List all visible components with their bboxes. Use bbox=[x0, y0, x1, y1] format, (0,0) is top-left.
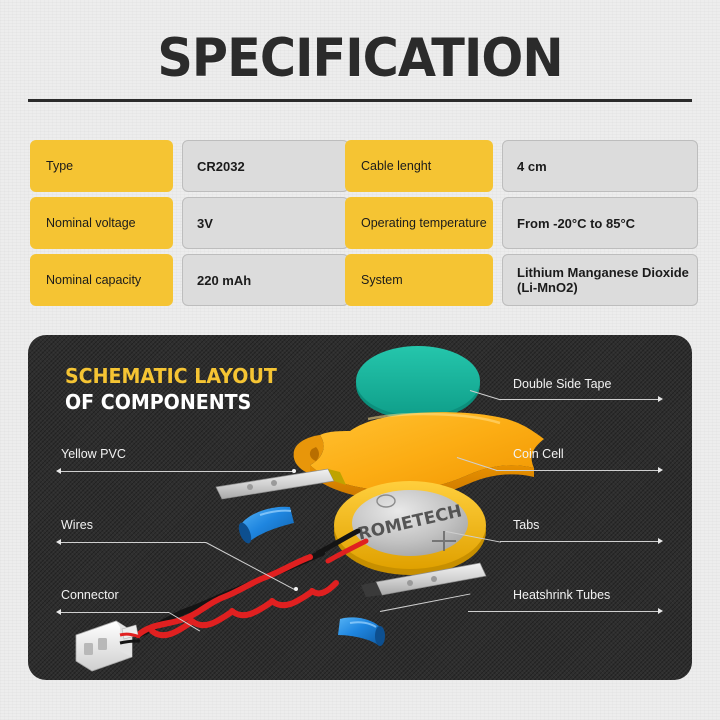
spec-value-cell: CR2032 bbox=[182, 140, 349, 192]
leader-arrow-coin-cell bbox=[658, 467, 663, 473]
spec-key-label: Type bbox=[46, 159, 73, 173]
spec-key-label: System bbox=[361, 273, 403, 287]
leader-line-coin-cell bbox=[496, 470, 658, 471]
spec-value-cell: 220 mAh bbox=[182, 254, 349, 306]
spec-value-cell: 4 cm bbox=[502, 140, 698, 192]
leader-endpoint-yellow-pvc bbox=[292, 469, 296, 473]
label-wires: Wires bbox=[61, 518, 93, 532]
spec-key-cell: Operating temperature bbox=[345, 197, 493, 249]
label-coin-cell: Coin Cell bbox=[513, 447, 564, 461]
leader-line-wires bbox=[61, 542, 206, 543]
label-connector: Connector bbox=[61, 588, 119, 602]
leader-line-heatshrink-tubes bbox=[468, 611, 658, 612]
title-divider bbox=[28, 99, 692, 102]
leader-arrow-tabs bbox=[658, 538, 663, 544]
leader-arrow-double-side-tape bbox=[658, 396, 663, 402]
spec-key-cell: Cable lenght bbox=[345, 140, 493, 192]
coin-cell-graphic: ROMETECH bbox=[334, 481, 486, 575]
spec-column-left: Type CR2032 Nominal voltage 3V Nominal c… bbox=[30, 140, 349, 311]
table-row: Nominal voltage 3V bbox=[30, 197, 349, 249]
spec-value-label: 4 cm bbox=[517, 159, 547, 174]
spec-value-label: CR2032 bbox=[197, 159, 245, 174]
spec-key-cell: Type bbox=[30, 140, 173, 192]
spec-value-label: From -20°C to 85°C bbox=[517, 216, 635, 231]
double-side-tape-graphic bbox=[356, 346, 480, 420]
spec-key-cell: Nominal capacity bbox=[30, 254, 173, 306]
leader-line-yellow-pvc bbox=[61, 471, 294, 472]
spec-key-label: Nominal capacity bbox=[46, 273, 141, 287]
spec-value-label: 3V bbox=[197, 216, 213, 231]
wires-graphic bbox=[138, 531, 366, 635]
leader-line-double-side-tape bbox=[500, 399, 658, 400]
spec-value-label: 220 mAh bbox=[197, 273, 251, 288]
table-row: System Lithium Manganese Dioxide (Li-MnO… bbox=[345, 254, 664, 306]
spec-value-cell: From -20°C to 85°C bbox=[502, 197, 698, 249]
spec-value-label: Lithium Manganese Dioxide (Li-MnO2) bbox=[517, 265, 697, 295]
spec-column-right: Cable lenght 4 cm Operating temperature … bbox=[345, 140, 664, 311]
leader-line-connector bbox=[61, 612, 169, 613]
spec-key-label: Cable lenght bbox=[361, 159, 431, 173]
heatshrink-tube-graphic-upper bbox=[236, 507, 294, 545]
spec-key-label: Nominal voltage bbox=[46, 216, 136, 230]
connector-graphic bbox=[76, 621, 140, 671]
leader-endpoint-wires bbox=[294, 587, 298, 591]
page-title: SPECIFICATION bbox=[25, 28, 695, 89]
heatshrink-tube-graphic-lower bbox=[338, 617, 385, 646]
spec-value-cell: 3V bbox=[182, 197, 349, 249]
label-yellow-pvc: Yellow PVC bbox=[61, 447, 126, 461]
label-heatshrink-tubes: Heatshrink Tubes bbox=[513, 588, 610, 602]
leader-arrow-heatshrink-tubes bbox=[658, 608, 663, 614]
spec-value-cell: Lithium Manganese Dioxide (Li-MnO2) bbox=[502, 254, 698, 306]
label-tabs: Tabs bbox=[513, 518, 539, 532]
leader-line-tabs bbox=[500, 541, 658, 542]
spec-key-cell: System bbox=[345, 254, 493, 306]
table-row: Cable lenght 4 cm bbox=[345, 140, 664, 192]
spec-key-label: Operating temperature bbox=[361, 216, 487, 230]
spec-key-cell: Nominal voltage bbox=[30, 197, 173, 249]
table-row: Operating temperature From -20°C to 85°C bbox=[345, 197, 664, 249]
schematic-panel: SCHEMATIC LAYOUT OF COMPONENTS bbox=[28, 335, 692, 680]
label-double-side-tape: Double Side Tape bbox=[513, 377, 611, 391]
table-row: Nominal capacity 220 mAh bbox=[30, 254, 349, 306]
table-row: Type CR2032 bbox=[30, 140, 349, 192]
